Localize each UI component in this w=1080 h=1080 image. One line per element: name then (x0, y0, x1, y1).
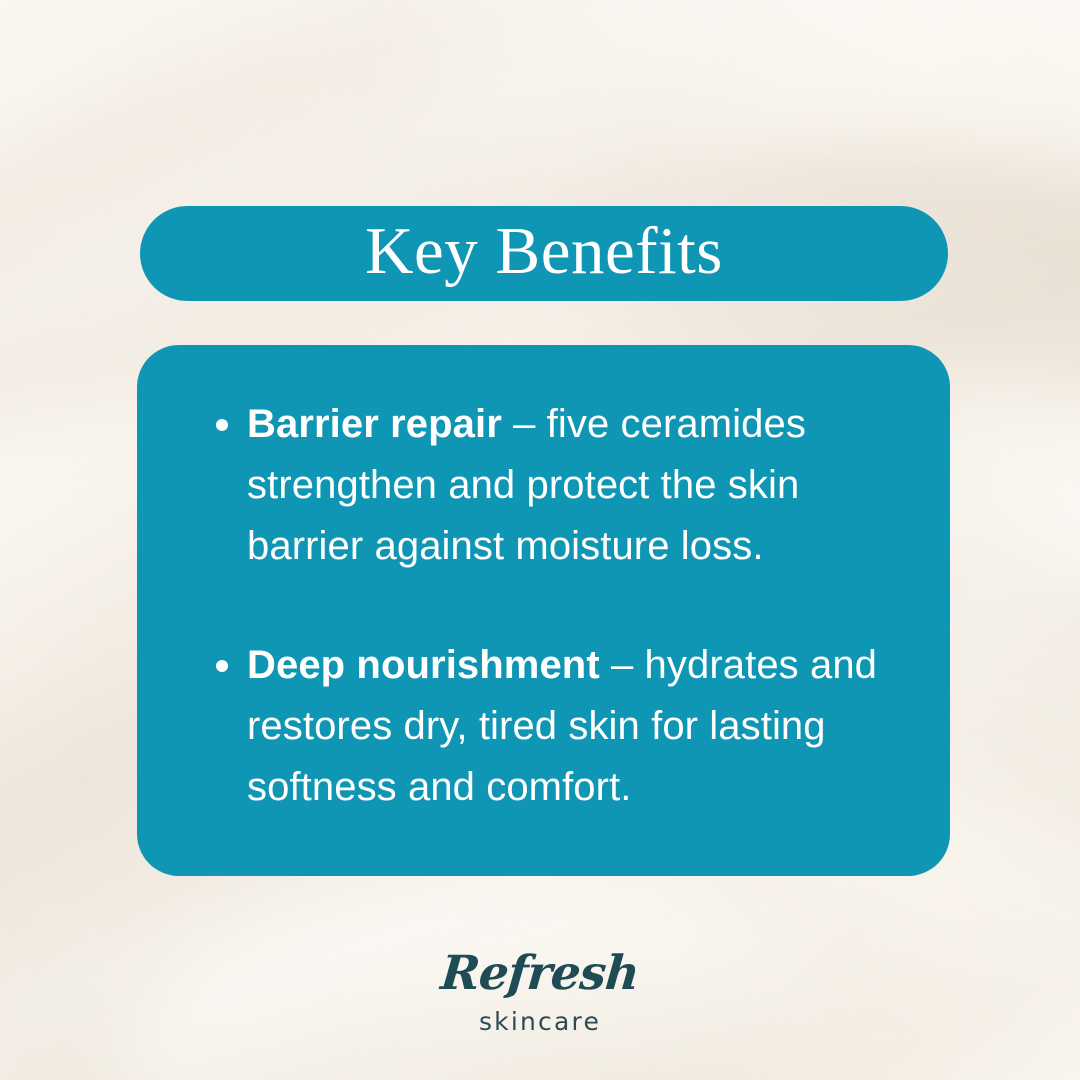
poster-canvas: Key Benefits Barrier repair – five ceram… (0, 0, 1080, 1080)
bullet-dot-icon (216, 660, 228, 672)
list-item: Barrier repair – five ceramides strength… (179, 394, 890, 577)
benefits-card: Barrier repair – five ceramides strength… (137, 345, 950, 876)
brand-logo: Refresh skincare (0, 950, 1080, 1034)
benefit-separator: – (600, 643, 645, 687)
brand-name: Refresh (439, 950, 641, 997)
benefit-lead: Barrier repair (247, 402, 502, 446)
benefits-list: Barrier repair – five ceramides strength… (179, 394, 890, 818)
brand-tagline: skincare (0, 1009, 1080, 1034)
page-title: Key Benefits (365, 218, 723, 290)
bullet-dot-icon (216, 419, 228, 431)
benefit-lead: Deep nourishment (247, 643, 600, 687)
list-item: Deep nourishment – hydrates and restores… (179, 635, 890, 818)
benefit-separator: – (502, 402, 547, 446)
title-banner: Key Benefits (140, 206, 948, 301)
